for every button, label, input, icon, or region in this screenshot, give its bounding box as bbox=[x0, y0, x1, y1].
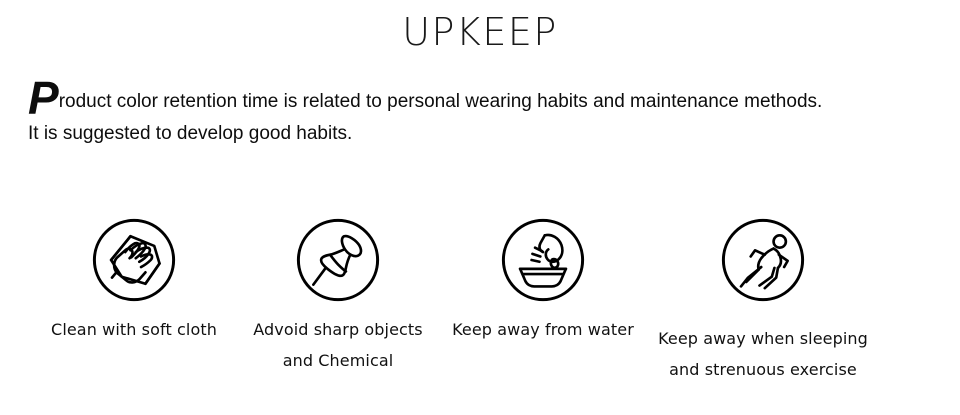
caption-line: Keep away from water bbox=[423, 314, 663, 345]
upkeep-care-instructions-page: UPKEEP Product color retention time is r… bbox=[0, 0, 960, 415]
hand-cloth-icon bbox=[90, 216, 178, 304]
feature-caption: Keep away from water bbox=[423, 314, 663, 345]
faucet-basin-icon bbox=[499, 216, 587, 304]
feature-caption: Keep away when sleeping and strenuous ex… bbox=[643, 323, 883, 385]
feature-caption: Advoid sharp objects and Chemical bbox=[218, 314, 458, 376]
feature-item-sharp-objects: Advoid sharp objects and Chemical bbox=[218, 216, 458, 376]
feature-item-avoid-water: Keep away from water bbox=[423, 216, 663, 345]
push-pin-icon bbox=[294, 216, 382, 304]
caption-line: and strenuous exercise bbox=[643, 354, 883, 385]
feature-item-avoid-exercise: Keep away when sleeping and strenuous ex… bbox=[643, 216, 883, 385]
care-feature-row: Clean with soft cloth Advoid sharp objec… bbox=[0, 0, 960, 415]
caption-line: Keep away when sleeping bbox=[643, 323, 883, 354]
caption-line: Advoid sharp objects bbox=[218, 314, 458, 345]
running-person-icon bbox=[719, 216, 807, 304]
caption-line: and Chemical bbox=[218, 345, 458, 376]
